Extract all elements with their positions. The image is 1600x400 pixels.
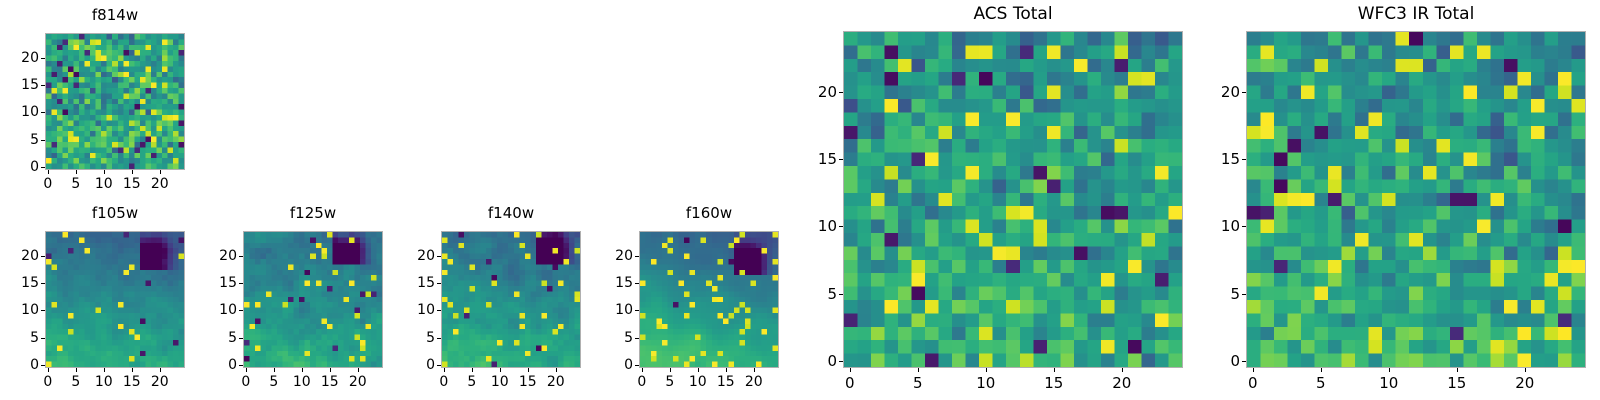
panel-wfc3_ir_total: WFC3 IR Total0510152005101520 bbox=[0, 0, 1600, 400]
ytick-label-wfc3_ir_total-3: 15 bbox=[1182, 150, 1240, 168]
ytick-label-wfc3_ir_total-0: 0 bbox=[1182, 352, 1240, 370]
ytick-label-wfc3_ir_total-1: 5 bbox=[1182, 285, 1240, 303]
ytick-mark-wfc3_ir_total-1 bbox=[1242, 294, 1246, 295]
xtick-mark-wfc3_ir_total-3 bbox=[1457, 368, 1458, 372]
xtick-mark-wfc3_ir_total-0 bbox=[1253, 368, 1254, 372]
heatmap-image-wfc3_ir_total bbox=[1247, 32, 1585, 367]
xtick-mark-wfc3_ir_total-4 bbox=[1525, 368, 1526, 372]
xtick-label-wfc3_ir_total-0: 0 bbox=[1248, 374, 1258, 392]
ytick-mark-wfc3_ir_total-2 bbox=[1242, 226, 1246, 227]
ytick-label-wfc3_ir_total-2: 10 bbox=[1182, 217, 1240, 235]
xtick-mark-wfc3_ir_total-2 bbox=[1389, 368, 1390, 372]
ytick-mark-wfc3_ir_total-0 bbox=[1242, 361, 1246, 362]
panel-title-wfc3_ir_total: WFC3 IR Total bbox=[1246, 4, 1586, 24]
xtick-label-wfc3_ir_total-4: 20 bbox=[1515, 374, 1534, 392]
xtick-mark-wfc3_ir_total-1 bbox=[1321, 368, 1322, 372]
xtick-label-wfc3_ir_total-1: 5 bbox=[1316, 374, 1326, 392]
ytick-label-wfc3_ir_total-4: 20 bbox=[1182, 83, 1240, 101]
xtick-label-wfc3_ir_total-2: 10 bbox=[1379, 374, 1398, 392]
heatmap-axes-wfc3_ir_total[interactable] bbox=[1246, 31, 1586, 368]
xtick-label-wfc3_ir_total-3: 15 bbox=[1447, 374, 1466, 392]
ytick-mark-wfc3_ir_total-3 bbox=[1242, 159, 1246, 160]
ytick-mark-wfc3_ir_total-4 bbox=[1242, 92, 1246, 93]
figure-canvas: f814w0510152005101520f105w05101520051015… bbox=[0, 0, 1600, 400]
